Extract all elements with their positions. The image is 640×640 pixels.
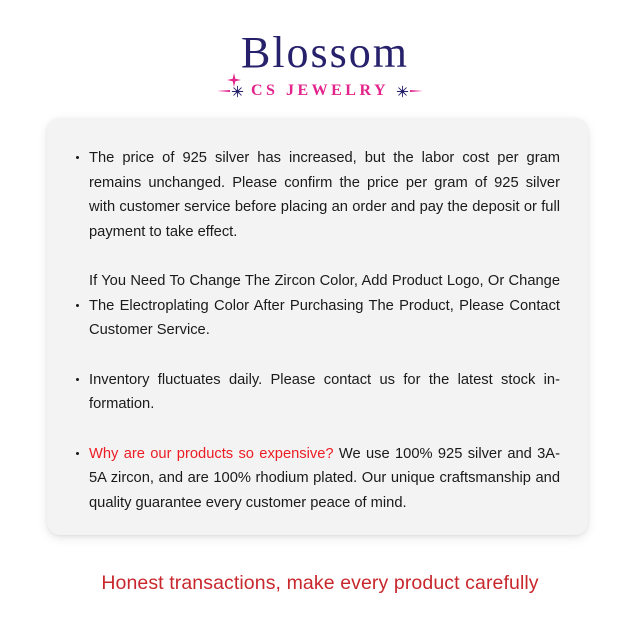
bullet-dot xyxy=(76,304,79,307)
bullet-dot xyxy=(76,452,79,455)
brand-subtitle-row: CS JEWELRY xyxy=(0,82,640,100)
promo-banner: Blossom CS JEWELRY xyxy=(0,0,640,640)
bullet-dot xyxy=(76,156,79,159)
bullet-dot xyxy=(76,378,79,381)
notice-text-price: The price of 925 silver has increased, b… xyxy=(89,150,560,240)
notice-text-inventory: Inventory fluctuates daily. Please conta… xyxy=(89,372,560,413)
ornament-dash-right xyxy=(410,90,423,92)
notice-list: The price of 925 silver has increased, b… xyxy=(75,146,560,515)
brand-title: Blossom xyxy=(241,28,409,77)
notice-card: The price of 925 silver has increased, b… xyxy=(47,118,588,535)
ornament-dash-left xyxy=(217,90,230,92)
brand-logo: Blossom CS JEWELRY xyxy=(0,28,640,100)
notice-highlight-question: Why are our products so expensive? xyxy=(89,446,334,462)
brand-subtitle: CS JEWELRY xyxy=(251,82,389,100)
list-item: If You Need To Change The Zircon Color, … xyxy=(75,269,560,343)
notice-text-customization: If You Need To Change The Zircon Color, … xyxy=(89,273,560,338)
list-item: Why are our products so expensive? We us… xyxy=(75,442,560,516)
list-item: Inventory fluctuates daily. Please conta… xyxy=(75,368,560,417)
snowflake-ornament-icon-right xyxy=(396,85,423,98)
brand-title-wrapper: Blossom xyxy=(231,28,409,78)
list-item: The price of 925 silver has increased, b… xyxy=(75,146,560,244)
footer-slogan: Honest transactions, make every product … xyxy=(0,570,640,596)
sparkle-icon xyxy=(227,48,241,62)
